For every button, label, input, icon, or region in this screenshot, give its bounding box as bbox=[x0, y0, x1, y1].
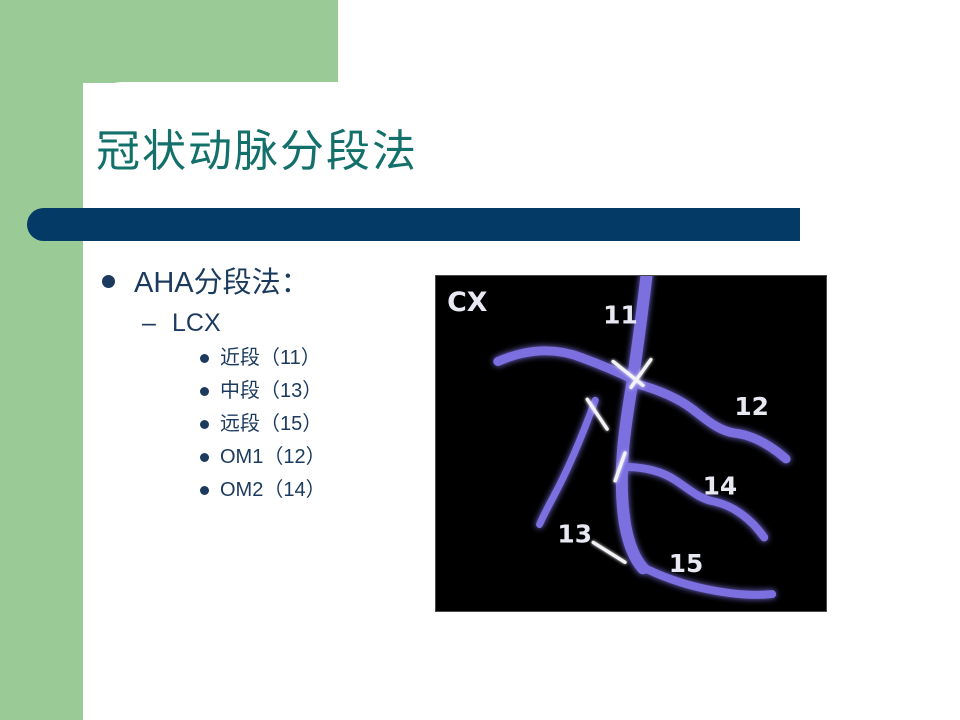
angiogram-segment-label-13: 13 bbox=[557, 519, 592, 548]
bullet-dot-small-icon bbox=[200, 354, 209, 363]
bullet-list: AHA分段法： – LCX 近段（11） 中段（13） 远段（15） OM1（1… bbox=[96, 262, 426, 507]
bullet-level3-label: 近段（11） bbox=[220, 347, 321, 369]
bullet-level3-item: 远段（15） bbox=[96, 408, 426, 441]
angiogram-segment-label-11: 11 bbox=[603, 301, 638, 330]
bullet-level3-label: OM1（12） bbox=[220, 446, 326, 468]
coronary-angiogram-image: CX 11 12 13 14 15 bbox=[435, 275, 827, 612]
green-left-strip bbox=[0, 0, 83, 720]
angiogram-corner-label: CX bbox=[447, 287, 488, 318]
bullet-level2-lcx: – LCX bbox=[96, 304, 426, 342]
bullet-level3-item: OM2（14） bbox=[96, 474, 426, 507]
bullet-dot-icon bbox=[102, 275, 115, 288]
slide-canvas: 冠状动脉分段法 AHA分段法： – LCX 近段（11） 中段（13） 远段（1… bbox=[0, 0, 960, 720]
angiogram-svg: CX 11 12 13 14 15 bbox=[436, 276, 826, 611]
bullet-level2-label: LCX bbox=[172, 309, 221, 337]
bullet-dot-small-icon bbox=[200, 486, 209, 495]
bullet-level3-item: OM1（12） bbox=[96, 441, 426, 474]
bullet-level1-label: AHA分段法： bbox=[134, 267, 310, 299]
bullet-dot-small-icon bbox=[200, 453, 209, 462]
bullet-level1-aha: AHA分段法： bbox=[96, 262, 426, 304]
bullet-level3-item: 中段（13） bbox=[96, 375, 426, 408]
bullet-level3-label: 远段（15） bbox=[220, 413, 322, 435]
bullet-level3-label: 中段（13） bbox=[220, 380, 322, 402]
angiogram-segment-label-14: 14 bbox=[703, 472, 738, 501]
bullet-level3-label: OM2（14） bbox=[220, 479, 326, 501]
slide-title: 冠状动脉分段法 bbox=[96, 124, 418, 180]
angiogram-segment-label-15: 15 bbox=[669, 549, 704, 578]
bullet-dot-small-icon bbox=[200, 420, 209, 429]
bullet-level3-item: 近段（11） bbox=[96, 342, 426, 375]
title-underline-bar bbox=[27, 208, 800, 241]
green-top-block bbox=[0, 0, 338, 83]
angiogram-segment-label-12: 12 bbox=[734, 392, 769, 421]
bullet-dot-small-icon bbox=[200, 387, 209, 396]
bullet-dash-icon: – bbox=[142, 304, 156, 342]
